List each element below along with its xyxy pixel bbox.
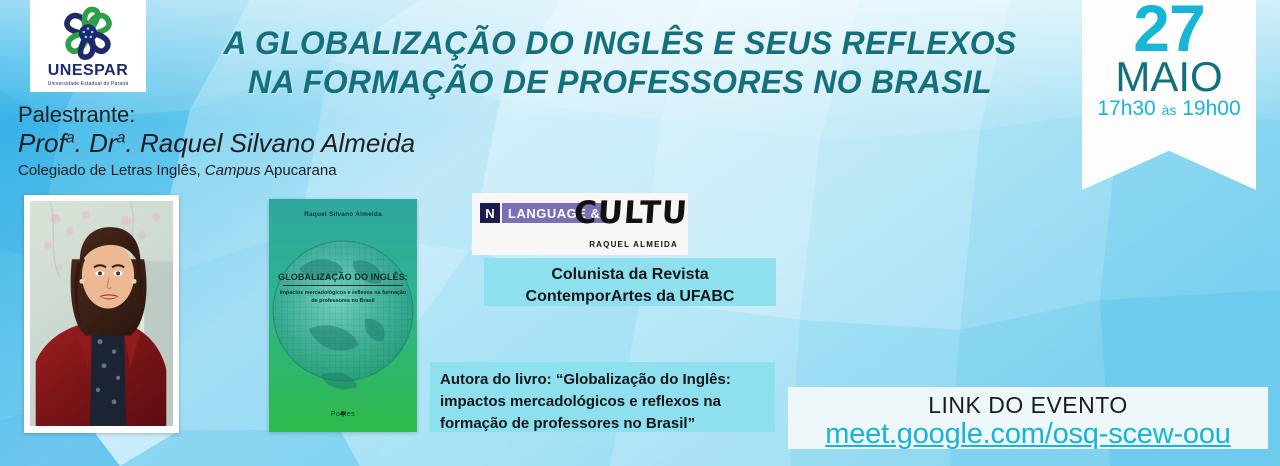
book-credit-band: Autora do livro: “Globalização do Inglês… bbox=[430, 362, 775, 432]
book-credit-line-1: Autora do livro: “Globalização do Inglês… bbox=[440, 369, 765, 391]
unespar-logo-subtitle: Universidade Estadual do Paraná bbox=[48, 81, 129, 87]
event-time-start: 17h30 bbox=[1097, 97, 1155, 120]
event-title-line-1: A GLOBALIZAÇÃO DO INGLÊS E SEUS REFLEXOS bbox=[195, 24, 1045, 63]
event-time: 17h30 às 19h00 bbox=[1082, 98, 1256, 119]
speaker-name-rest: . Raquel Silvano Almeida bbox=[126, 128, 416, 158]
book-cover-artwork bbox=[269, 199, 417, 432]
speaker-affiliation-pre: Colegiado de Letras Inglês, bbox=[18, 162, 205, 179]
speaker-portrait bbox=[24, 195, 179, 433]
speaker-name: Profa. Dra. Raquel Silvano Almeida bbox=[18, 128, 415, 159]
book-credit-line-2: impactos mercadológicos e reflexos na bbox=[440, 391, 765, 413]
speaker-name-prefix2: . Dr bbox=[75, 128, 117, 158]
book-credit-line-3: formação de professores no Brasil” bbox=[440, 413, 765, 435]
columnist-band: Colunista da Revista ContemporArtes da U… bbox=[484, 258, 776, 306]
event-link-label: LINK DO EVENTO bbox=[788, 392, 1268, 418]
speaker-portrait-image bbox=[30, 201, 173, 426]
speaker-name-prefix-ordinal: a bbox=[66, 128, 75, 146]
speaker-affiliation: Colegiado de Letras Inglês, Campus Apuca… bbox=[18, 162, 415, 180]
columnist-line-1: Colunista da Revista bbox=[484, 264, 776, 286]
unespar-flower-logo-icon bbox=[53, 4, 123, 62]
book-subtitle: impactos mercadológicos e reflexos na fo… bbox=[277, 289, 409, 305]
speaker-name-prefix: Prof bbox=[18, 128, 66, 158]
language-culture-logo: N LANGUAGE & CULTURE RAQUEL ALMEIDA bbox=[472, 193, 688, 255]
event-link-url[interactable]: meet.google.com/osq-scew-oou bbox=[788, 418, 1268, 450]
book-cover: Raquel Silvano Almeida GLOBALIZAÇÃO DO I… bbox=[269, 199, 417, 432]
n-badge-icon: N bbox=[480, 203, 500, 223]
event-title-line-2: NA FORMAÇÃO DE PROFESSORES NO BRASIL bbox=[195, 63, 1045, 102]
event-day: 27 bbox=[1082, 0, 1256, 59]
speaker-affiliation-post: Apucarana bbox=[261, 162, 337, 179]
language-culture-author: RAQUEL ALMEIDA bbox=[589, 240, 678, 249]
book-publisher: Pontes bbox=[269, 410, 417, 418]
event-time-end: 19h00 bbox=[1182, 97, 1240, 120]
speaker-affiliation-campus: Campus bbox=[205, 162, 261, 179]
book-title-rule bbox=[283, 285, 403, 286]
event-title: A GLOBALIZAÇÃO DO INGLÊS E SEUS REFLEXOS… bbox=[195, 24, 1045, 103]
event-time-separator: às bbox=[1162, 102, 1177, 118]
speaker-name-prefix2-ordinal: a bbox=[117, 128, 126, 146]
event-month: MAIO bbox=[1082, 57, 1256, 97]
culture-label: CULTURE bbox=[573, 195, 688, 231]
speaker-block: Palestrante: Profa. Dra. Raquel Silvano … bbox=[18, 103, 415, 180]
unespar-logo-wordmark: UNESPAR bbox=[48, 63, 129, 79]
book-title: GLOBALIZAÇÃO DO INGLÊS: bbox=[269, 272, 417, 284]
book-author: Raquel Silvano Almeida bbox=[269, 211, 417, 218]
unespar-logo: UNESPAR Universidade Estadual do Paraná bbox=[30, 0, 146, 92]
event-link-box[interactable]: LINK DO EVENTO meet.google.com/osq-scew-… bbox=[788, 387, 1268, 449]
columnist-line-2: ContemporArtes da UFABC bbox=[484, 286, 776, 308]
speaker-label: Palestrante: bbox=[18, 103, 415, 127]
